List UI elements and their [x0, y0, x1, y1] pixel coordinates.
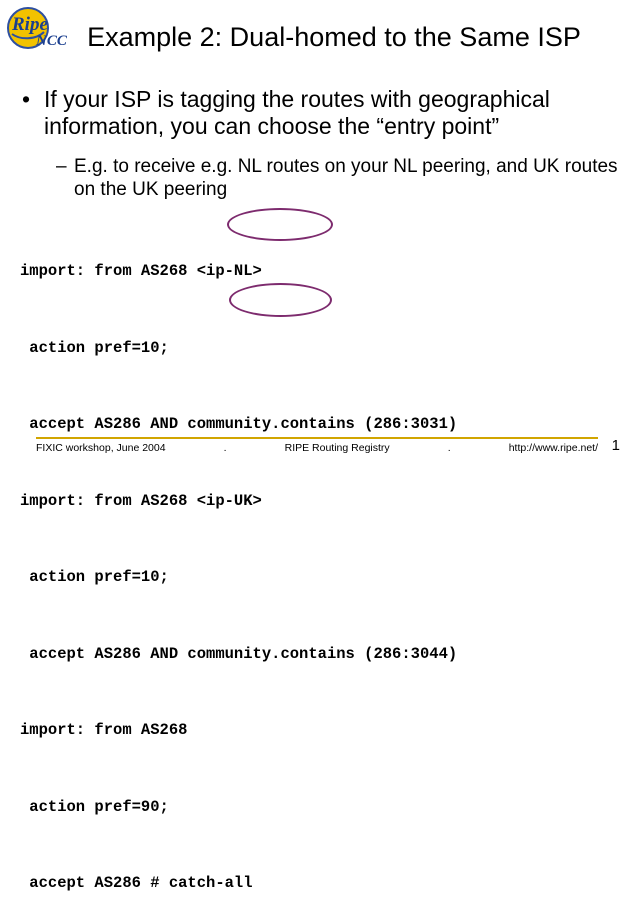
footer-url[interactable]: http://www.ripe.net/: [509, 442, 598, 454]
code-line: action pref=90;: [20, 795, 620, 821]
footer: FIXIC workshop, June 2004 . RIPE Routing…: [36, 442, 598, 454]
policy-code-block: import: from AS268 <ip-NL> action pref=1…: [20, 208, 620, 922]
code-line: accept AS286 AND community.contains (286…: [20, 412, 620, 438]
code-line: import: from AS268 <ip-NL>: [20, 259, 620, 285]
footer-separator-1: .: [224, 442, 227, 454]
bullet-marker-icon: •: [22, 86, 30, 113]
footer-middle-text: RIPE Routing Registry: [285, 442, 390, 454]
code-line: action pref=10;: [20, 565, 620, 591]
code-line: import: from AS268 <ip-UK>: [20, 489, 620, 515]
page-number: 1: [612, 437, 620, 454]
code-line: accept AS286 AND community.contains (286…: [20, 642, 620, 668]
bullet-level-2: – E.g. to receive e.g. NL routes on your…: [56, 155, 622, 201]
footer-left-text: FIXIC workshop, June 2004: [36, 442, 166, 454]
page-title: Example 2: Dual-homed to the Same ISP: [44, 22, 624, 53]
code-line: import: from AS268: [20, 718, 620, 744]
bullet-level-1-text: If your ISP is tagging the routes with g…: [44, 86, 618, 140]
bullet-level-2-text: E.g. to receive e.g. NL routes on your N…: [74, 155, 622, 201]
code-line: accept AS286 # catch-all: [20, 871, 620, 897]
dash-marker-icon: –: [56, 155, 67, 178]
footer-separator-2: .: [448, 442, 451, 454]
svg-text:Ripe: Ripe: [11, 14, 48, 35]
footer-divider: [36, 437, 598, 439]
code-line: action pref=10;: [20, 336, 620, 362]
bullet-level-1: • If your ISP is tagging the routes with…: [22, 86, 618, 140]
